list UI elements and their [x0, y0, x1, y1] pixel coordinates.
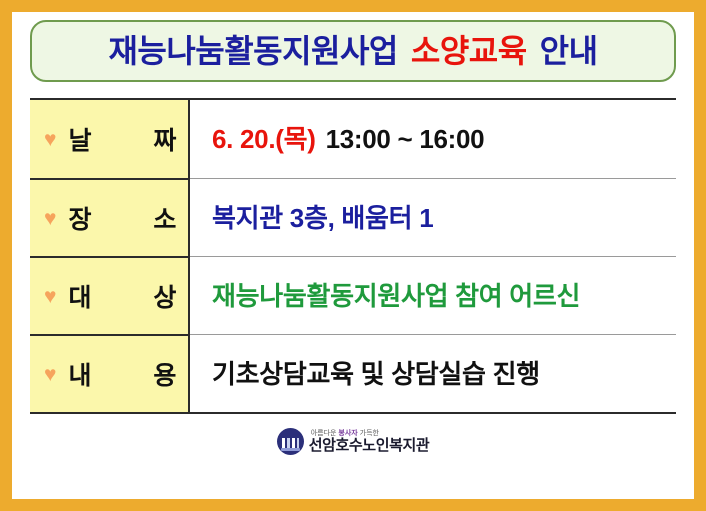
row-label-place: ♥ 장 소	[30, 178, 190, 256]
footer-logo: 아름다운 봉사자 가득한 선암호수노인복지관	[26, 428, 680, 455]
heart-icon: ♥	[44, 364, 56, 385]
label-text: 대 상	[68, 278, 192, 314]
label-text: 장 소	[68, 200, 192, 236]
row-value-date: 6. 20.(목)13:00 ~ 16:00	[190, 100, 676, 178]
date-day: 6. 20.(목)	[212, 124, 316, 154]
heart-icon: ♥	[44, 208, 56, 229]
heart-icon: ♥	[44, 129, 56, 150]
place-value: 복지관 3층, 배움터 1	[212, 205, 433, 231]
title-part-topic: 소양교육	[411, 33, 527, 69]
row-label-date: ♥ 날 짜	[30, 100, 190, 178]
date-time: 13:00 ~ 16:00	[326, 124, 485, 154]
title-part-notice: 안내	[540, 33, 598, 69]
organization-emblem-icon	[277, 428, 304, 455]
tagline-pre: 아름다운	[311, 430, 339, 437]
table-row: ♥ 장 소 복지관 3층, 배움터 1	[30, 178, 676, 256]
page-title: 재능나눔활동지원사업소양교육안내	[108, 35, 597, 67]
content-value: 기초상담교육 및 상담실습 진행	[212, 361, 540, 387]
heart-icon: ♥	[44, 286, 56, 307]
target-value: 재능나눔활동지원사업 참여 어르신	[212, 283, 580, 309]
title-banner: 재능나눔활동지원사업소양교육안내	[30, 20, 676, 82]
logo-text-block: 아름다운 봉사자 가득한 선암호수노인복지관	[309, 430, 430, 454]
table-row: ♥ 날 짜 6. 20.(목)13:00 ~ 16:00	[30, 100, 676, 178]
title-part-program: 재능나눔활동지원사업	[108, 33, 397, 69]
poster-content: 재능나눔활동지원사업소양교육안내 ♥ 날 짜 6. 20.(목)13:00 ~ …	[12, 12, 694, 499]
poster-frame: 재능나눔활동지원사업소양교육안내 ♥ 날 짜 6. 20.(목)13:00 ~ …	[0, 0, 706, 511]
row-label-content: ♥ 내 용	[30, 334, 190, 412]
table-row: ♥ 대 상 재능나눔활동지원사업 참여 어르신	[30, 256, 676, 334]
organization-name: 선암호수노인복지관	[309, 438, 430, 453]
label-text: 날 짜	[68, 121, 192, 157]
row-value-target: 재능나눔활동지원사업 참여 어르신	[190, 256, 676, 334]
row-value-content: 기초상담교육 및 상담실습 진행	[190, 334, 676, 412]
date-value: 6. 20.(목)13:00 ~ 16:00	[212, 126, 484, 152]
info-table: ♥ 날 짜 6. 20.(목)13:00 ~ 16:00 ♥ 장 소 복지관 3…	[30, 98, 676, 414]
tagline-highlight: 봉사자	[338, 430, 357, 437]
row-label-target: ♥ 대 상	[30, 256, 190, 334]
label-text: 내 용	[68, 356, 192, 392]
row-value-place: 복지관 3층, 배움터 1	[190, 178, 676, 256]
tagline-post: 가득한	[358, 430, 379, 437]
table-row: ♥ 내 용 기초상담교육 및 상담실습 진행	[30, 334, 676, 412]
